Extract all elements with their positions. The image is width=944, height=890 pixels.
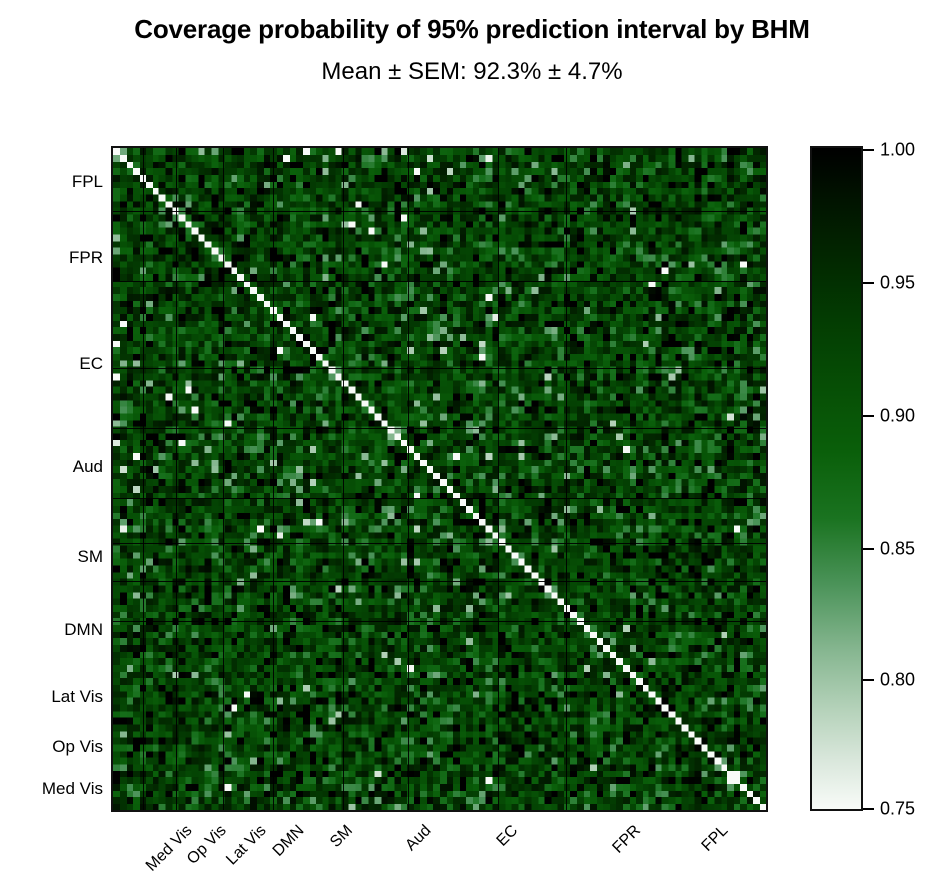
x-tick-label: FPR <box>609 822 644 857</box>
colorbar-tick-mark <box>863 282 874 284</box>
x-tick-label: EC <box>494 822 522 850</box>
colorbar-tick-mark <box>863 149 874 151</box>
x-tick-label: Lat Vis <box>223 822 270 869</box>
x-tick-label: Aud <box>402 822 435 855</box>
x-tick-label: FPL <box>699 822 732 855</box>
colorbar-tick-label: 0.95 <box>880 273 915 294</box>
colorbar-tick-mark <box>863 679 874 681</box>
x-axis: Med VisOp VisLat VisDMNSMAudECFPRFPL <box>0 0 944 890</box>
colorbar-tick-label: 0.85 <box>880 539 915 560</box>
colorbar-tick-label: 1.00 <box>880 140 915 161</box>
colorbar-tick-label: 0.90 <box>880 406 915 427</box>
colorbar-tick-mark <box>863 548 874 550</box>
colorbar: 1.000.950.900.850.800.75 <box>810 146 863 811</box>
x-tick-label: Med Vis <box>143 822 196 875</box>
x-tick-label: SM <box>327 822 357 852</box>
colorbar-gradient <box>810 146 863 811</box>
colorbar-tick-mark <box>863 808 874 810</box>
colorbar-tick-label: 0.75 <box>880 799 915 820</box>
x-tick-label: DMN <box>270 822 308 860</box>
colorbar-tick-label: 0.80 <box>880 670 915 691</box>
colorbar-tick-mark <box>863 415 874 417</box>
